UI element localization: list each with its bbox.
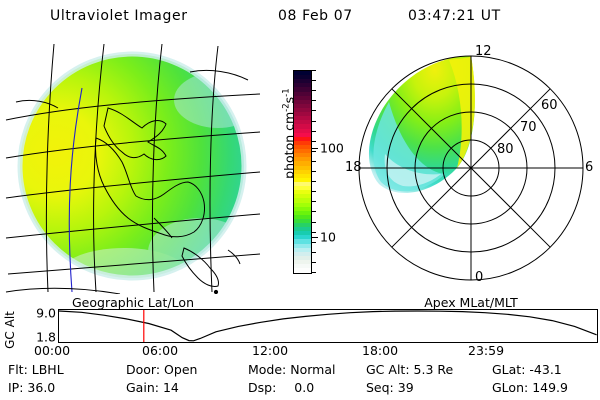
colorbar-minor-tick bbox=[311, 211, 316, 212]
colorbar-title-exp2: -1 bbox=[281, 88, 291, 96]
status-gcalt-key: GC Alt: bbox=[366, 362, 410, 377]
colorbar-minor-tick bbox=[311, 161, 316, 162]
colorbar-minor-tick bbox=[311, 110, 316, 111]
orbit-altitude-line bbox=[59, 311, 597, 341]
colorbar-ticks: 10010 bbox=[311, 70, 345, 274]
status-door: Door: Open bbox=[126, 362, 197, 377]
status-glat-key: GLat: bbox=[492, 362, 525, 377]
apex-polar-panel[interactable]: 12 6 0 18 60 70 80 Apex MLat/MLT bbox=[345, 42, 597, 294]
colorbar-minor-tick bbox=[311, 191, 316, 192]
mlt-label-6: 6 bbox=[585, 160, 593, 175]
status-ip-key: IP: bbox=[8, 380, 23, 395]
status-ip-value: 36.0 bbox=[27, 380, 55, 395]
colorbar-minor-tick bbox=[311, 232, 316, 233]
orbit-ytick-max: 9.0 bbox=[36, 306, 56, 321]
status-block: Flt: LBHL Door: Open Mode: Normal GC Alt… bbox=[0, 360, 600, 400]
mlat-label-70: 70 bbox=[520, 120, 537, 135]
globe-image[interactable] bbox=[4, 42, 262, 294]
colorbar-tick-label-1: 10 bbox=[320, 230, 336, 245]
orbit-xtick-1800: 18:00 bbox=[362, 343, 398, 358]
mlt-label-0: 0 bbox=[475, 270, 483, 285]
colorbar-panel: photon cm-2s-1 10010 bbox=[264, 48, 344, 288]
status-gcalt-value: 5.3 Re bbox=[414, 362, 454, 377]
status-dsp-value: 0.0 bbox=[294, 380, 314, 395]
colorbar-minor-tick bbox=[311, 242, 316, 243]
ultraviolet-imager-window: Ultraviolet Imager 08 Feb 07 03:47:21 UT bbox=[0, 0, 600, 400]
orbit-xtick-0600: 06:00 bbox=[142, 343, 178, 358]
mlt-label-12: 12 bbox=[475, 44, 492, 59]
status-glat: GLat: -43.1 bbox=[492, 362, 562, 377]
status-mode-value: Normal bbox=[290, 362, 335, 377]
orbit-y-ticks: 9.0 1.8 bbox=[18, 303, 56, 347]
colorbar-minor-tick bbox=[311, 90, 316, 91]
colorbar-minor-tick bbox=[311, 121, 316, 122]
colorbar-minor-tick bbox=[311, 252, 316, 253]
orbit-xtick-0000: 00:00 bbox=[34, 343, 70, 358]
colorbar-minor-tick bbox=[311, 131, 316, 132]
observation-time: 03:47:21 UT bbox=[408, 8, 501, 24]
status-flt-key: Flt: bbox=[8, 362, 28, 377]
status-mode: Mode: Normal bbox=[248, 362, 336, 377]
status-gain: Gain: 14 bbox=[126, 380, 179, 395]
status-flt: Flt: LBHL bbox=[8, 362, 64, 377]
orbit-xtick-2359: 23:59 bbox=[468, 343, 504, 358]
status-glon: GLon: 149.9 bbox=[492, 380, 568, 395]
colorbar-minor-tick bbox=[311, 100, 316, 101]
orbit-x-ticks: 00:00 06:00 12:00 18:00 23:59 bbox=[0, 343, 600, 359]
orbit-altitude-panel[interactable]: GC Alt 9.0 1.8 00:00 06:00 12:00 18:00 2… bbox=[0, 303, 600, 358]
status-door-key: Door: bbox=[126, 362, 160, 377]
instrument-title: Ultraviolet Imager bbox=[50, 8, 188, 24]
orbit-trace[interactable] bbox=[59, 310, 597, 342]
geographic-globe-panel[interactable]: Geographic Lat/Lon bbox=[4, 42, 262, 294]
colorbar-minor-tick bbox=[311, 272, 316, 273]
colorbar-title-exp1: -2 bbox=[281, 103, 291, 111]
colorbar-cell bbox=[294, 268, 311, 272]
status-ip: IP: 36.0 bbox=[8, 380, 55, 395]
colorbar-tick-label-0: 100 bbox=[320, 141, 344, 156]
colorbar-minor-tick bbox=[311, 70, 316, 71]
mlat-label-80: 80 bbox=[497, 142, 514, 157]
colorbar-minor-tick bbox=[311, 201, 316, 202]
status-gain-value: 14 bbox=[163, 380, 179, 395]
mlat-label-60: 60 bbox=[541, 98, 558, 113]
status-door-value: Open bbox=[164, 362, 197, 377]
status-glon-key: GLon: bbox=[492, 380, 528, 395]
orbit-xtick-1200: 12:00 bbox=[252, 343, 288, 358]
colorbar-major-tick bbox=[311, 148, 318, 149]
colorbar-minor-tick bbox=[311, 222, 316, 223]
status-glat-value: -43.1 bbox=[529, 362, 561, 377]
status-glon-value: 149.9 bbox=[532, 380, 568, 395]
status-mode-key: Mode: bbox=[248, 362, 286, 377]
colorbar-minor-tick bbox=[311, 171, 316, 172]
status-gain-key: Gain: bbox=[126, 380, 159, 395]
mlt-spokes bbox=[359, 56, 583, 280]
status-gcalt: GC Alt: 5.3 Re bbox=[366, 362, 453, 377]
auroral-oval-patch bbox=[369, 56, 475, 193]
polar-plot[interactable] bbox=[345, 42, 597, 294]
colorbar-minor-tick bbox=[311, 262, 316, 263]
colorbar-gradient bbox=[293, 70, 312, 274]
colorbar-minor-tick bbox=[311, 181, 316, 182]
status-dsp: Dsp: 0.0 bbox=[248, 380, 314, 395]
status-flt-value: LBHL bbox=[32, 362, 64, 377]
mlt-label-18: 18 bbox=[345, 160, 362, 175]
status-dsp-key: Dsp: bbox=[248, 380, 276, 395]
header: Ultraviolet Imager 08 Feb 07 03:47:21 UT bbox=[0, 6, 600, 30]
colorbar-major-tick bbox=[311, 237, 318, 238]
colorbar-minor-tick bbox=[311, 80, 316, 81]
colorbar-minor-tick bbox=[311, 151, 316, 152]
status-seq-value: 39 bbox=[398, 380, 414, 395]
status-seq-key: Seq: bbox=[366, 380, 394, 395]
orbit-plot-frame[interactable] bbox=[58, 309, 598, 343]
colorbar-minor-tick bbox=[311, 141, 316, 142]
status-seq: Seq: 39 bbox=[366, 380, 414, 395]
observation-date: 08 Feb 07 bbox=[278, 8, 353, 24]
